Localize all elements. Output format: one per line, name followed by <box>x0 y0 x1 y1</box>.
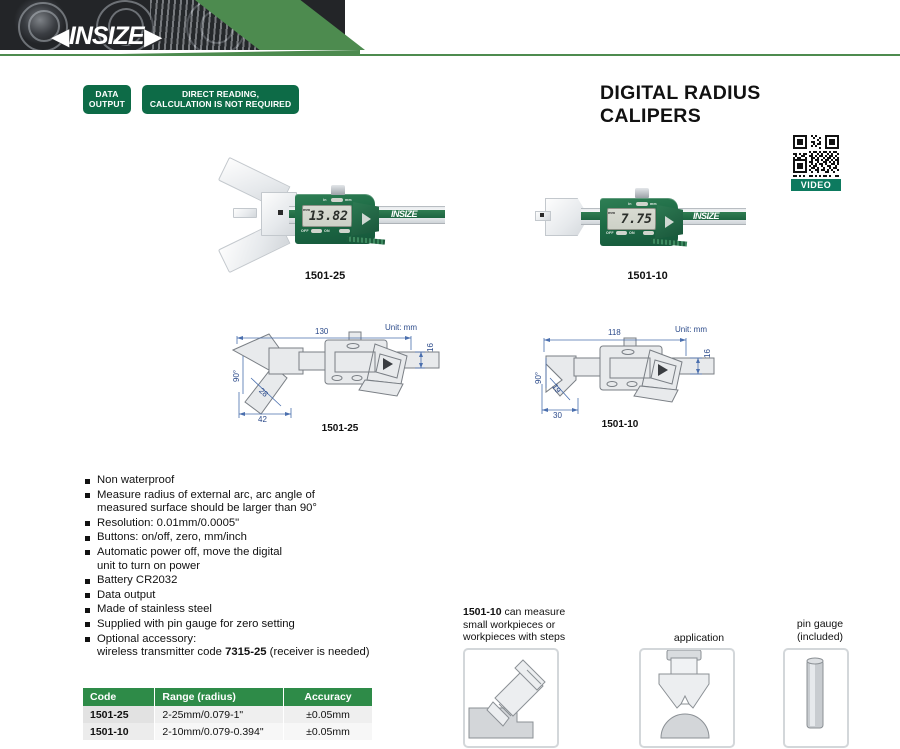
application-column-1: 1501-10 can measure small workpieces or … <box>463 606 583 746</box>
application-column-2: application <box>625 606 755 746</box>
mode-mm-label: mm <box>345 198 352 202</box>
list-item: Battery CR2032 <box>82 574 462 588</box>
application-caption-rest: can measure <box>502 606 566 618</box>
list-item: Resolution: 0.01mm/0.0005" <box>82 517 462 531</box>
cell-code: 1501-10 <box>83 723 155 740</box>
probe-tip <box>278 210 283 215</box>
lcd-mm-indicator: mm <box>608 210 615 215</box>
thumb-roller <box>331 185 345 195</box>
page-header: ◀INSIZE▶ <box>0 0 900 56</box>
mode-toggle-button[interactable] <box>636 202 648 206</box>
logo-arrow-left-icon: ◀ <box>52 26 68 48</box>
application-column-3: pin gauge (included) <box>780 606 870 746</box>
lcd-mm-indicator: mm <box>303 207 310 212</box>
dim-length-1: 130 <box>315 327 328 336</box>
list-item: Supplied with pin gauge for zero setting <box>82 618 462 632</box>
bullet-text-cont: wireless transmitter code 7315-25 (recei… <box>97 646 462 660</box>
dimension-drawing-1501-10: Unit: mm 118 16 90° 19 30 1501-10 <box>520 322 735 442</box>
bullet-text: Optional accessory: <box>97 633 196 645</box>
dim-width-2: 30 <box>553 411 562 420</box>
product-photo-1501-25: INSIZE 13.82 mm in mm OFF ON ZERO 1501-2… <box>205 180 445 290</box>
beam-logo-text: INSIZE <box>391 209 417 219</box>
bullet-text: Battery CR2032 <box>97 574 177 586</box>
list-item: Buttons: on/off, zero, mm/inch <box>82 531 462 545</box>
page-title: DIGITAL RADIUS CALIPERS <box>600 82 860 128</box>
drawing-caption-1501-10: 1501-10 <box>565 419 675 430</box>
direction-triangle-icon <box>665 216 674 228</box>
product-caption-1501-25: 1501-25 <box>205 270 445 282</box>
unit-label-1: Unit: mm <box>385 323 417 332</box>
dim-width-1: 42 <box>258 415 267 424</box>
power-button[interactable] <box>311 229 322 233</box>
video-label: VIDEO <box>791 179 841 191</box>
product-caption-1501-10: 1501-10 <box>535 270 760 282</box>
power-button[interactable] <box>616 231 627 235</box>
badge-data-output-line2: OUTPUT <box>89 100 125 110</box>
bullet-text: Buttons: on/off, zero, mm/inch <box>97 531 247 543</box>
video-qr-block[interactable]: VIDEO <box>791 133 841 191</box>
drawing-caption-1501-25: 1501-25 <box>285 423 395 434</box>
dim-length-2: 118 <box>608 328 621 337</box>
bullet-text: Supplied with pin gauge for zero setting <box>97 618 295 630</box>
beam-logo-text: INSIZE <box>693 211 719 221</box>
application-image-3 <box>783 648 849 748</box>
mode-in-label: in <box>628 202 632 206</box>
table-header-row: Code Range (radius) Accuracy <box>83 688 373 706</box>
application-caption-2: application <box>639 632 759 645</box>
off-label: OFF <box>301 229 309 233</box>
table-row: 1501-25 2-25mm/0.079-1" ±0.05mm <box>83 706 373 723</box>
application-image-1 <box>463 648 559 748</box>
mode-in-label: in <box>323 198 327 202</box>
application-svg-1 <box>465 650 553 742</box>
header-range: Range (radius) <box>155 688 284 706</box>
logo-arrow-right-icon: ▶ <box>145 26 161 48</box>
cell-accuracy: ±0.05mm <box>284 723 373 740</box>
pin-gauge-svg <box>785 650 843 742</box>
mode-toggle-button[interactable] <box>331 198 343 202</box>
badge-direct-reading: DIRECT READING, CALCULATION IS NOT REQUI… <box>142 85 299 114</box>
cell-accuracy: ±0.05mm <box>284 706 373 723</box>
on-label: ON <box>324 229 330 233</box>
product-photo-1501-10: INSIZE 7.75 mm in mm OFF ON ZERO 1501-10 <box>535 180 760 290</box>
application-caption-1: 1501-10 can measure small workpieces or … <box>463 606 593 644</box>
on-label: ON <box>629 231 635 235</box>
header-accuracy: Accuracy <box>284 688 373 706</box>
application-svg-2 <box>641 650 729 742</box>
direction-triangle-icon <box>362 213 371 225</box>
qr-code-icon[interactable] <box>791 133 841 179</box>
bullet-text: Automatic power off, move the digital <box>97 546 282 558</box>
header-rule <box>0 54 900 56</box>
specification-table: Code Range (radius) Accuracy 1501-25 2-2… <box>83 688 373 740</box>
bullet-text: Resolution: 0.01mm/0.0005" <box>97 517 239 529</box>
zero-button[interactable] <box>643 231 654 235</box>
list-item: Non waterproof <box>82 474 462 488</box>
application-caption-3: pin gauge (included) <box>780 618 860 643</box>
cell-code: 1501-25 <box>83 706 155 723</box>
bullet-text: Data output <box>97 589 155 601</box>
bullet-text-cont: unit to turn on power <box>97 560 462 574</box>
bullet-text-cont: measured surface should be larger than 9… <box>97 502 462 516</box>
dim-angle-2: 90° <box>534 372 543 384</box>
feature-list: Non waterproof Measure radius of externa… <box>82 474 462 661</box>
list-item: Automatic power off, move the digital un… <box>82 546 462 573</box>
pin-gauge-label-line2: (included) <box>797 631 843 643</box>
application-image-2 <box>639 648 735 748</box>
cell-range: 2-25mm/0.079-1" <box>155 706 284 723</box>
bullet-text: Non waterproof <box>97 474 174 486</box>
list-item: Made of stainless steel <box>82 603 462 617</box>
insize-logo: ◀INSIZE▶ <box>52 22 160 51</box>
dim-height-2: 16 <box>703 349 712 358</box>
dim-height-1: 16 <box>426 343 435 352</box>
dimension-drawing-1501-25: Unit: mm 130 16 90° 28 42 1501-25 <box>225 322 445 442</box>
table-row: 1501-10 2-10mm/0.079-0.394" ±0.05mm <box>83 723 373 740</box>
badge-data-output: DATA OUTPUT <box>83 85 131 114</box>
list-item: Optional accessory: wireless transmitter… <box>82 633 462 660</box>
list-item: Measure radius of external arc, arc angl… <box>82 489 462 516</box>
off-label: OFF <box>606 231 614 235</box>
bullet-text: Measure radius of external arc, arc angl… <box>97 489 315 501</box>
application-caption-line3: workpieces with steps <box>463 631 565 643</box>
pin-gauge-probe <box>233 208 257 218</box>
cell-range: 2-10mm/0.079-0.394" <box>155 723 284 740</box>
unit-label-2: Unit: mm <box>675 325 707 334</box>
bullet-text: Made of stainless steel <box>97 603 212 615</box>
badge-direct-reading-line2: CALCULATION IS NOT REQUIRED <box>150 100 291 110</box>
dim-angle-1: 90° <box>232 370 241 382</box>
thumb-roller <box>635 188 649 198</box>
probe-tip <box>540 213 544 217</box>
logo-text: INSIZE <box>69 22 144 51</box>
list-item: Data output <box>82 589 462 603</box>
application-caption-line2: small workpieces or <box>463 619 555 631</box>
application-caption-code: 1501-10 <box>463 606 502 618</box>
mode-mm-label: mm <box>650 202 657 206</box>
qr-code-svg <box>791 133 841 179</box>
header-code: Code <box>83 688 155 706</box>
zero-button[interactable] <box>339 229 350 233</box>
pin-gauge-label-line1: pin gauge <box>797 618 843 630</box>
